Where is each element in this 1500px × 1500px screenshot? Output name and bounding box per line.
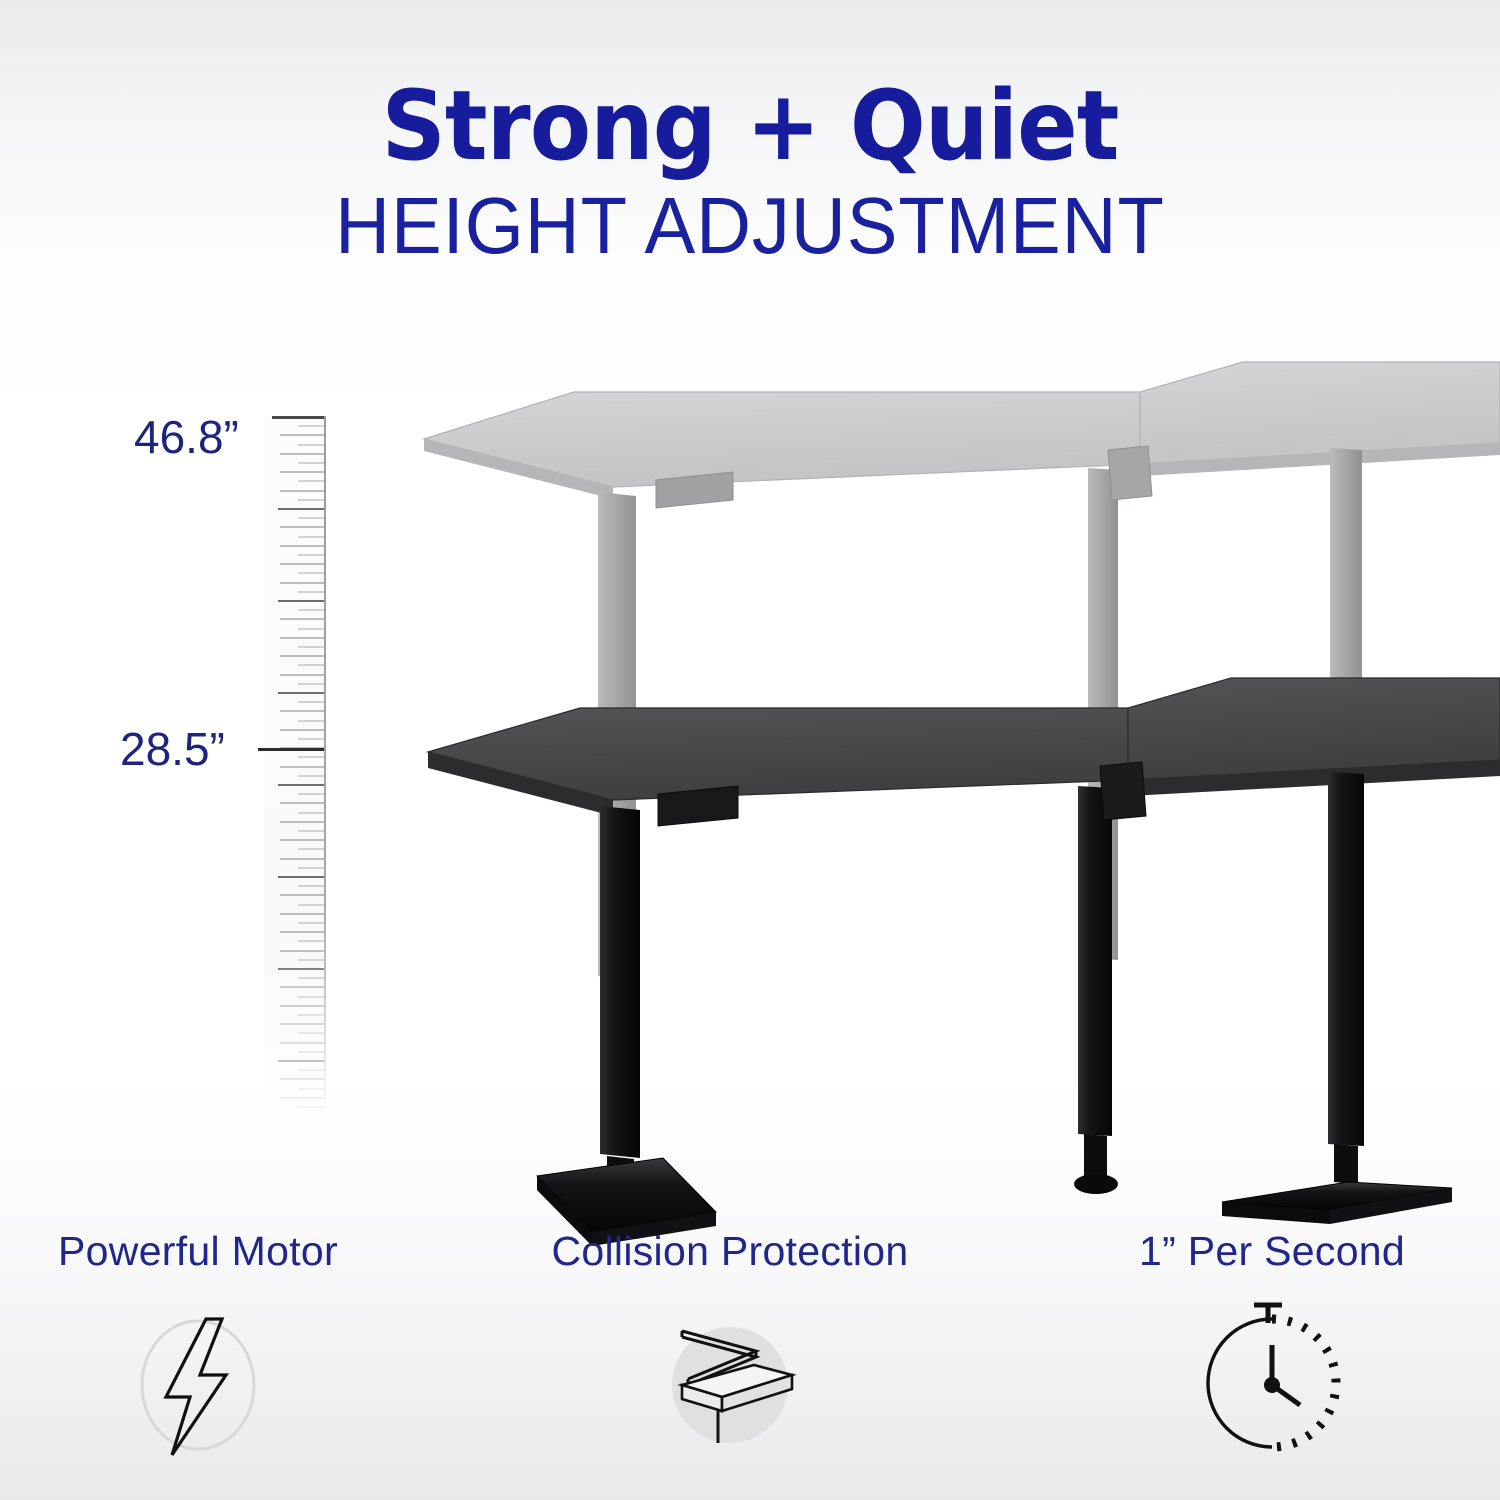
lowered-motor-housing xyxy=(1100,762,1146,820)
lightning-bolt-icon xyxy=(98,1293,298,1473)
feature-label: 1” Per Second xyxy=(1022,1228,1500,1275)
lowered-leg-front-left xyxy=(600,806,640,1158)
lowered-leg-corner-inner xyxy=(1084,1134,1107,1178)
page-subtitle: HEIGHT ADJUSTMENT xyxy=(38,186,1463,266)
raised-motor-housing xyxy=(1108,446,1152,500)
infographic-canvas: Strong + Quiet HEIGHT ADJUSTMENT 46.8” 2… xyxy=(0,0,1500,1500)
feature-collision-protection: Collision Protection xyxy=(480,1228,980,1473)
lowered-leg-right xyxy=(1328,772,1364,1146)
feature-label: Powerful Motor xyxy=(0,1228,448,1275)
feature-label: Collision Protection xyxy=(480,1228,980,1275)
feature-speed: 1” Per Second xyxy=(1022,1228,1500,1473)
feature-row: Powerful Motor Collision Protection xyxy=(0,1228,1500,1500)
desk-collision-icon xyxy=(630,1293,830,1473)
lowered-leg-right-inner xyxy=(1334,1144,1358,1184)
clock-icon xyxy=(1172,1293,1372,1473)
lowered-leg-corner xyxy=(1078,786,1112,1136)
headline-block: Strong + Quiet HEIGHT ADJUSTMENT xyxy=(0,78,1500,266)
desk-illustration xyxy=(0,300,1500,1280)
page-title: Strong + Quiet xyxy=(53,78,1448,174)
desk-lowered-position xyxy=(428,678,1500,1246)
lowered-foot-corner xyxy=(1074,1174,1118,1194)
feature-powerful-motor: Powerful Motor xyxy=(0,1228,448,1473)
